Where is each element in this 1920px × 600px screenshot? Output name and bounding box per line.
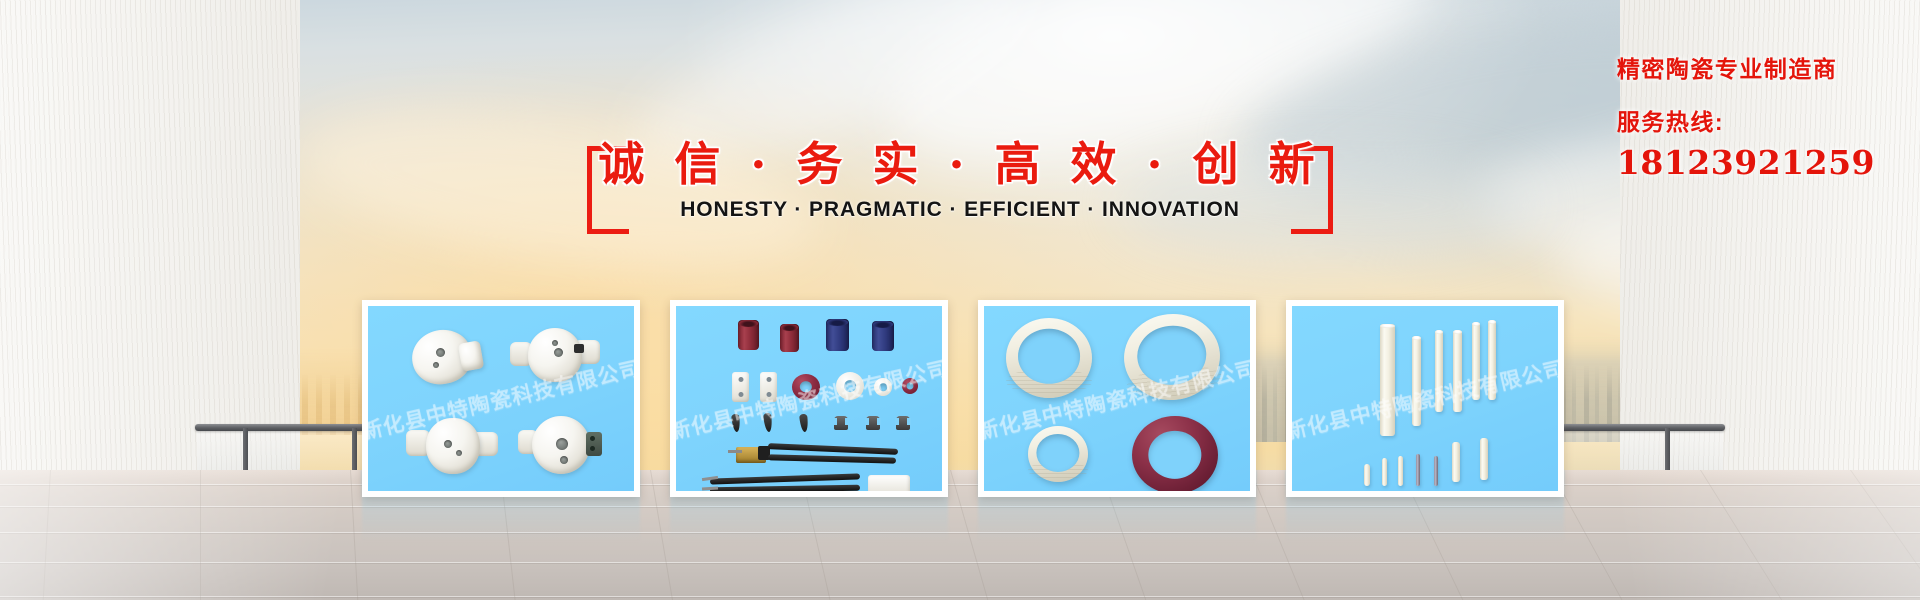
ceramic-tube-red <box>738 320 759 350</box>
metal-clip <box>834 416 848 430</box>
ceramic-socket-part <box>406 416 498 478</box>
ceramic-rod <box>1472 322 1480 400</box>
ceramic-plate <box>732 372 749 402</box>
ceramic-rod-short <box>1382 458 1387 486</box>
panel-canvas: 新化县中特陶瓷科技有限公司 <box>1292 306 1558 491</box>
metal-clip <box>866 416 880 430</box>
product-panel-ceramic-rings[interactable]: 新化县中特陶瓷科技有限公司 <box>978 300 1256 497</box>
ceramic-socket-part <box>408 328 486 388</box>
ceramic-ring-small <box>874 378 892 396</box>
panel-canvas: 新化县中特陶瓷科技有限公司 <box>676 306 942 491</box>
ceramic-tube-blue <box>872 321 894 351</box>
panel-watermark: 新化县中特陶瓷科技有限公司 <box>1292 352 1558 446</box>
ceramic-rod <box>1412 336 1421 426</box>
ceramic-ring-white <box>836 372 864 400</box>
metal-blade <box>799 414 809 433</box>
ceramic-rod <box>1488 320 1496 400</box>
ceramic-rod-short-dark <box>1416 454 1420 486</box>
promotional-banner: 诚 信 · 务 实 · 高 效 · 创 新 HONESTY · PRAGMATI… <box>0 0 1920 600</box>
ceramic-tube-blue <box>826 319 849 351</box>
ceramic-rod-short-dark <box>1434 456 1438 486</box>
ceramic-rod-short <box>1452 442 1460 482</box>
ceramic-rod <box>1435 330 1443 412</box>
ceramic-rod-short <box>1480 438 1488 480</box>
product-panel-ceramic-rods[interactable]: 新化县中特陶瓷科技有限公司 <box>1286 300 1564 497</box>
ceramic-plate <box>760 372 777 402</box>
wire-assembly-white <box>702 474 912 491</box>
metal-blade <box>763 413 773 433</box>
ceramic-tube-red <box>780 324 799 352</box>
product-panel-ceramic-sockets[interactable]: 新化县中特陶瓷科技有限公司 <box>362 300 640 497</box>
metal-blade <box>731 414 741 433</box>
wire-assembly-gold <box>728 444 908 466</box>
panel-canvas: 新化县中特陶瓷科技有限公司 <box>984 306 1250 491</box>
product-panel-ceramic-components[interactable]: 新化县中特陶瓷科技有限公司 <box>670 300 948 497</box>
ceramic-socket-part <box>510 326 600 388</box>
ceramic-ring-maroon <box>1132 416 1218 491</box>
ceramic-ring-red <box>792 374 820 400</box>
panel-canvas: 新化县中特陶瓷科技有限公司 <box>368 306 634 491</box>
product-panel-row: 新化县中特陶瓷科技有限公司 <box>0 0 1920 600</box>
ceramic-ring-large-left <box>1006 318 1092 398</box>
metal-clip <box>896 416 910 430</box>
ceramic-ring-large-right <box>1120 309 1224 405</box>
ceramic-ring-small <box>1028 426 1088 482</box>
ceramic-rod-short <box>1364 464 1370 486</box>
ceramic-rod-short <box>1398 456 1403 486</box>
ceramic-ring-red-small <box>902 378 918 394</box>
ceramic-rod <box>1380 324 1395 436</box>
ceramic-socket-part <box>518 414 610 476</box>
ceramic-rod <box>1453 330 1462 412</box>
